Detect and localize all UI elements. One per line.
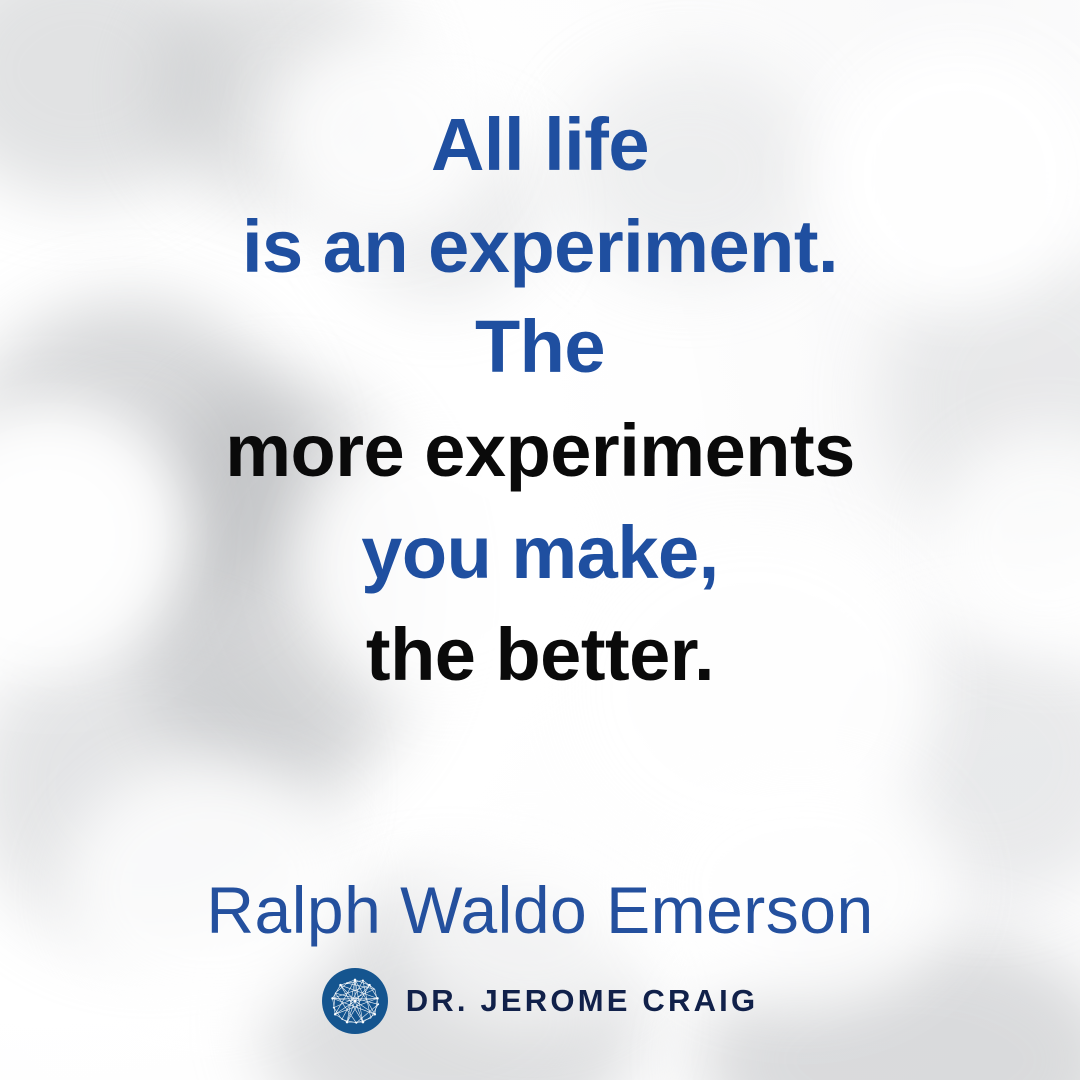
brand-lockup: DR. JEROME CRAIG: [0, 968, 1080, 1034]
quote-line-4: more experiments: [0, 414, 1080, 488]
quote-line-2: is an experiment.: [0, 210, 1080, 284]
quote-line-6: the better.: [0, 618, 1080, 692]
brand-name: DR. JEROME CRAIG: [406, 985, 759, 1018]
quote-text-block: All life is an experiment. The more expe…: [0, 108, 1080, 692]
quote-line-3: The: [0, 310, 1080, 384]
quote-author: Ralph Waldo Emerson: [0, 872, 1080, 948]
quote-line-1: All life: [0, 108, 1080, 182]
quote-card: All life is an experiment. The more expe…: [0, 0, 1080, 1080]
quote-line-5: you make,: [0, 516, 1080, 590]
network-mesh-icon: [322, 968, 388, 1034]
